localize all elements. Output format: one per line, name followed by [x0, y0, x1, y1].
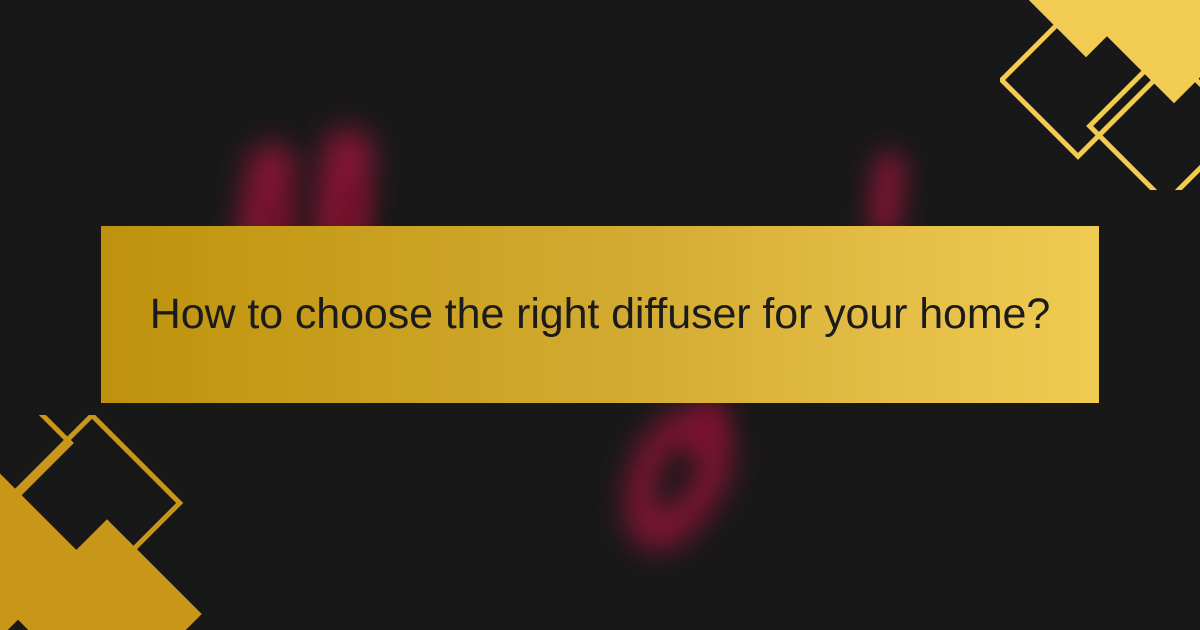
page-title: How to choose the right diffuser for you…: [150, 288, 1050, 341]
crimson-swirl-shape: [602, 391, 750, 566]
diamond-pattern-icon: [0, 415, 215, 630]
crimson-blob-shape: [679, 395, 735, 459]
banner-canvas: How to choose the right diffuser for you…: [0, 0, 1200, 630]
bottom-left-decoration: [0, 415, 215, 630]
diamond-pattern-icon: [1000, 0, 1200, 190]
top-right-decoration: [1000, 0, 1200, 190]
crimson-swirl-cutout: [643, 434, 709, 518]
title-banner: How to choose the right diffuser for you…: [101, 226, 1099, 403]
